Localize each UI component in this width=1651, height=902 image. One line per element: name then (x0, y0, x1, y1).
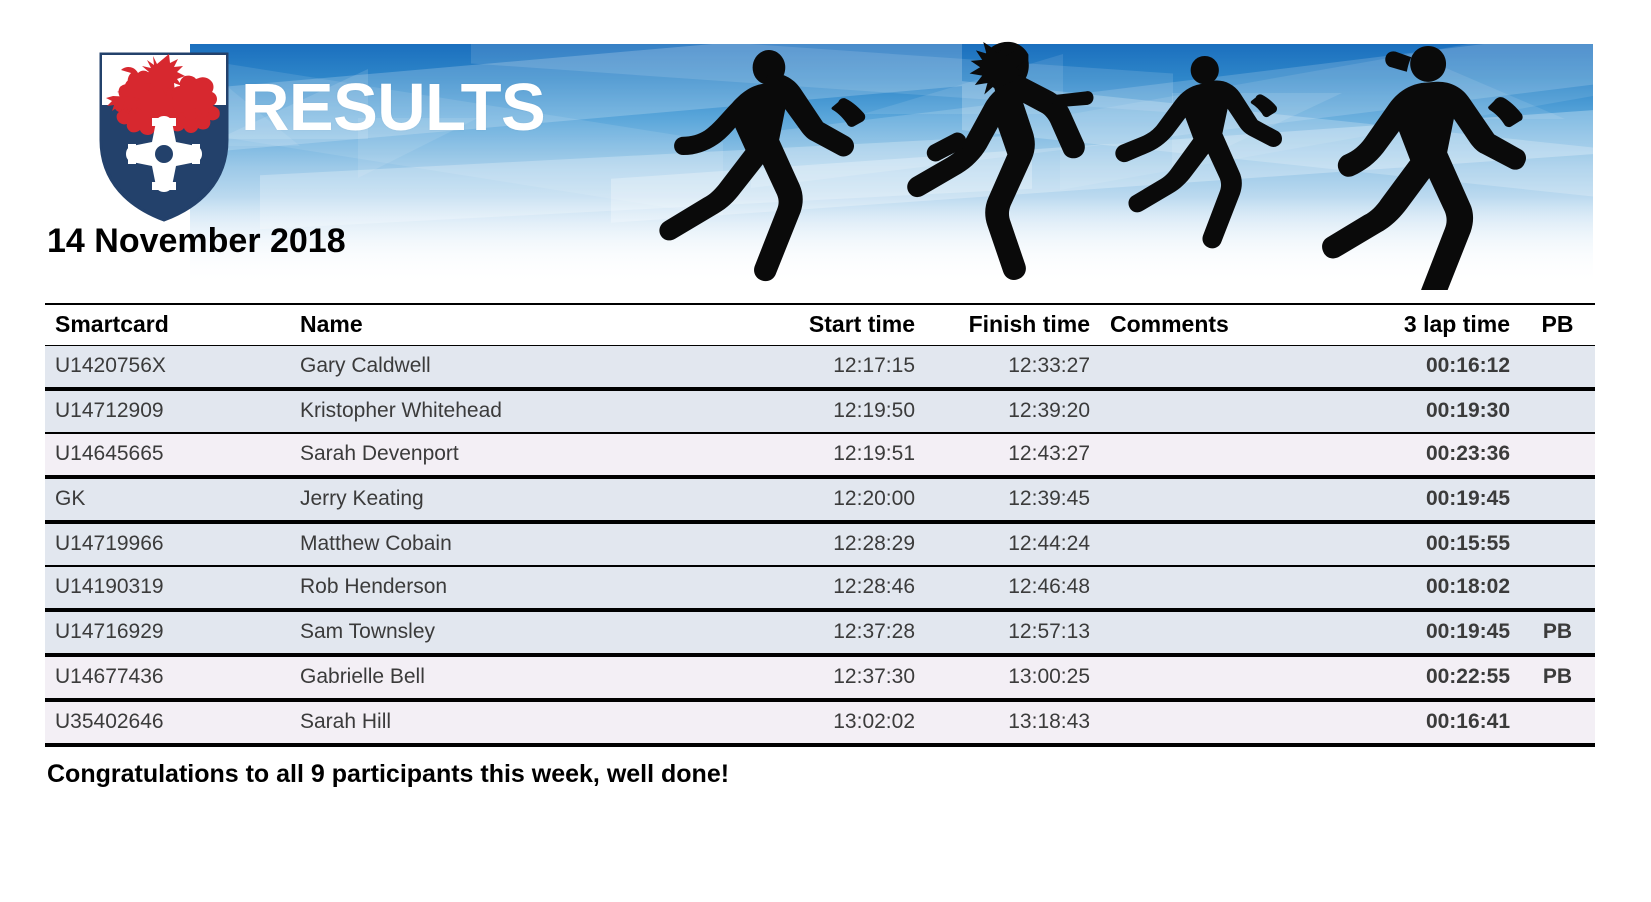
table-row[interactable]: U14190319Rob Henderson12:28:4612:46:4800… (45, 566, 1595, 610)
cell-smartcard: U14712909 (45, 389, 290, 433)
cell-finish-time: 12:57:13 (925, 610, 1100, 655)
column-header-name[interactable]: Name (290, 304, 730, 346)
table-row[interactable]: U35402646Sarah Hill13:02:0213:18:4300:16… (45, 700, 1595, 745)
cell-finish-time: 12:46:48 (925, 566, 1100, 610)
table-header: Smartcard Name Start time Finish time Co… (45, 304, 1595, 346)
cell-finish-time: 13:18:43 (925, 700, 1100, 745)
cell-finish-time: 12:44:24 (925, 522, 1100, 566)
cell-pb-badge (1520, 389, 1595, 433)
column-header-pb[interactable]: PB (1520, 304, 1595, 346)
congratulations-note: Congratulations to all 9 participants th… (47, 760, 729, 789)
cell-start-time: 12:37:30 (730, 655, 925, 700)
cell-pb-badge (1520, 346, 1595, 390)
cell-comments (1100, 346, 1330, 390)
cell-smartcard: U14677436 (45, 655, 290, 700)
newcastle-university-crest-icon (99, 52, 229, 222)
cell-finish-time: 12:43:27 (925, 433, 1100, 477)
cell-lap-time: 00:23:36 (1330, 433, 1520, 477)
cell-start-time: 13:02:02 (730, 700, 925, 745)
table-row[interactable]: U1420756XGary Caldwell12:17:1512:33:2700… (45, 346, 1595, 390)
cell-comments (1100, 389, 1330, 433)
cell-lap-time: 00:19:45 (1330, 610, 1520, 655)
column-header-smartcard[interactable]: Smartcard (45, 304, 290, 346)
cell-lap-time: 00:16:41 (1330, 700, 1520, 745)
cell-start-time: 12:20:00 (730, 477, 925, 522)
cell-comments (1100, 522, 1330, 566)
cell-lap-time: 00:15:55 (1330, 522, 1520, 566)
cell-smartcard: U14716929 (45, 610, 290, 655)
cell-start-time: 12:28:46 (730, 566, 925, 610)
cell-lap-time: 00:18:02 (1330, 566, 1520, 610)
cell-pb-badge (1520, 522, 1595, 566)
cell-smartcard: U14719966 (45, 522, 290, 566)
banner-facet-shape (1172, 93, 1342, 173)
cell-pb-badge (1520, 566, 1595, 610)
cell-start-time: 12:37:28 (730, 610, 925, 655)
cell-start-time: 12:19:50 (730, 389, 925, 433)
cell-smartcard: U14190319 (45, 566, 290, 610)
cell-comments (1100, 566, 1330, 610)
banner-title: RESULTS (241, 74, 545, 141)
event-date: 14 November 2018 (47, 222, 346, 261)
table-row[interactable]: U14677436Gabrielle Bell12:37:3013:00:250… (45, 655, 1595, 700)
column-header-comments[interactable]: Comments (1100, 304, 1330, 346)
cell-name: Jerry Keating (290, 477, 730, 522)
column-header-lap-time[interactable]: 3 lap time (1330, 304, 1520, 346)
cell-smartcard: U1420756X (45, 346, 290, 390)
cell-pb-badge (1520, 477, 1595, 522)
cell-finish-time: 12:39:20 (925, 389, 1100, 433)
column-header-finish-time[interactable]: Finish time (925, 304, 1100, 346)
cell-lap-time: 00:16:12 (1330, 346, 1520, 390)
cell-lap-time: 00:22:55 (1330, 655, 1520, 700)
column-header-start-time[interactable]: Start time (730, 304, 925, 346)
cell-pb-badge: PB (1520, 655, 1595, 700)
table-row[interactable]: U14712909Kristopher Whitehead12:19:5012:… (45, 389, 1595, 433)
cell-name: Sarah Devenport (290, 433, 730, 477)
table-row[interactable]: U14645665Sarah Devenport12:19:5112:43:27… (45, 433, 1595, 477)
cell-lap-time: 00:19:30 (1330, 389, 1520, 433)
cell-name: Sam Townsley (290, 610, 730, 655)
cell-name: Gary Caldwell (290, 346, 730, 390)
cell-pb-badge (1520, 700, 1595, 745)
cell-smartcard: U14645665 (45, 433, 290, 477)
cell-smartcard: GK (45, 477, 290, 522)
banner-facet-shape (1425, 59, 1565, 119)
cell-name: Matthew Cobain (290, 522, 730, 566)
table-row[interactable]: GKJerry Keating12:20:0012:39:4500:19:45 (45, 477, 1595, 522)
cell-name: Gabrielle Bell (290, 655, 730, 700)
cell-comments (1100, 700, 1330, 745)
table-row[interactable]: U14716929Sam Townsley12:37:2812:57:1300:… (45, 610, 1595, 655)
table-row[interactable]: U14719966Matthew Cobain12:28:2912:44:240… (45, 522, 1595, 566)
cell-comments (1100, 655, 1330, 700)
cell-finish-time: 13:00:25 (925, 655, 1100, 700)
cell-name: Rob Henderson (290, 566, 730, 610)
results-page: RESULTS 14 November 2018 Smartcard Name … (0, 0, 1651, 902)
cell-comments (1100, 433, 1330, 477)
cell-start-time: 12:19:51 (730, 433, 925, 477)
cell-comments (1100, 610, 1330, 655)
cell-pb-badge: PB (1520, 610, 1595, 655)
cell-start-time: 12:28:29 (730, 522, 925, 566)
cell-smartcard: U35402646 (45, 700, 290, 745)
cell-finish-time: 12:39:45 (925, 477, 1100, 522)
cell-lap-time: 00:19:45 (1330, 477, 1520, 522)
results-table: Smartcard Name Start time Finish time Co… (45, 303, 1595, 747)
cell-finish-time: 12:33:27 (925, 346, 1100, 390)
cell-pb-badge (1520, 433, 1595, 477)
table-header-row: Smartcard Name Start time Finish time Co… (45, 304, 1595, 346)
cell-name: Kristopher Whitehead (290, 389, 730, 433)
table-body: U1420756XGary Caldwell12:17:1512:33:2700… (45, 346, 1595, 746)
cell-name: Sarah Hill (290, 700, 730, 745)
cell-start-time: 12:17:15 (730, 346, 925, 390)
cell-comments (1100, 477, 1330, 522)
banner-facet-shape (863, 54, 1063, 114)
